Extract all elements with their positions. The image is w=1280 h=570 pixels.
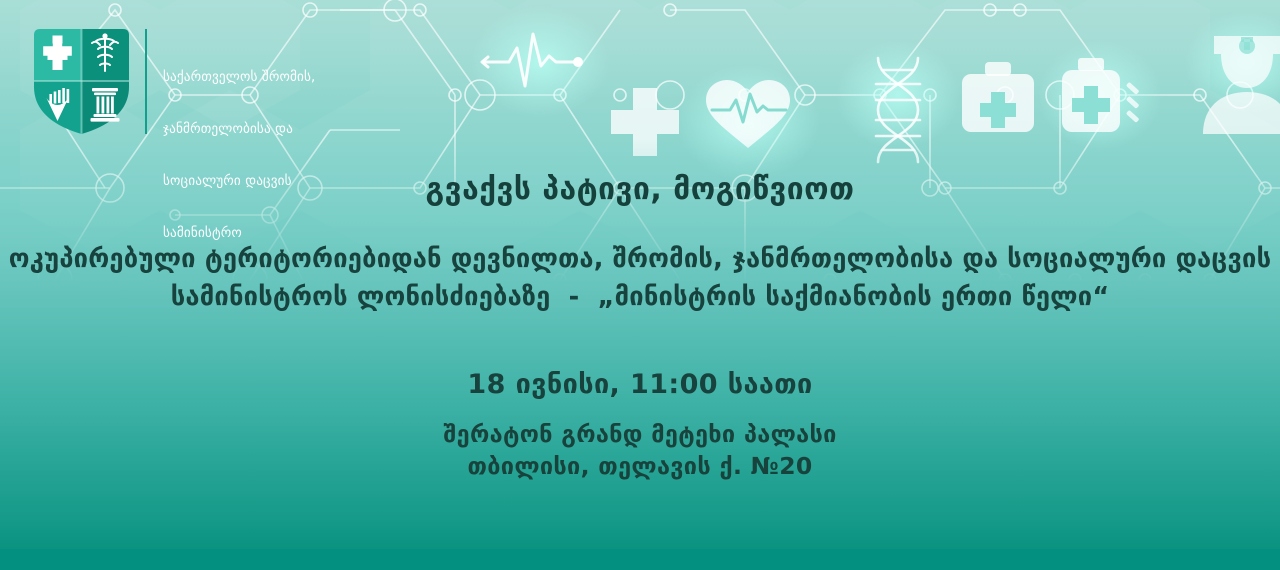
event-datetime: 18 ივნისი, 11:00 საათი — [0, 368, 1280, 402]
first-aid-kit-icon — [962, 62, 1034, 132]
logo-divider — [145, 29, 147, 134]
heartbeat-pulse-icon — [482, 34, 583, 86]
ministry-name-line: ჯანმრთელობისა და — [163, 121, 315, 138]
invitation-content: გვაქვს პატივი, მოგიწვიოთ ოკუპირებული ტერ… — [0, 172, 1280, 482]
event-invitation-banner: საქართველოს შრომის, ჯანმრთელობისა და სოც… — [0, 0, 1280, 570]
venue-address: თბილისი, თელავის ქ. №20 — [0, 450, 1280, 482]
heart-pulse-icon — [706, 80, 790, 148]
ministry-name-line: საქართველოს შრომის, — [163, 69, 315, 86]
dna-helix-icon — [876, 58, 920, 162]
bottom-accent-bar — [0, 549, 1280, 570]
invitation-body-line: სამინისტროს ლონისძიებაზე - „მინისტრის სა… — [0, 278, 1280, 316]
medical-cross-icon — [611, 88, 679, 156]
invitation-body-line: ოკუპირებული ტერიტორიებიდან დევნილთა, შრო… — [0, 240, 1280, 278]
doctor-avatar-icon — [1203, 36, 1280, 134]
venue-name: შერატონ გრანდ მეტეხი პალასი — [0, 418, 1280, 450]
invitation-body: ოკუპირებული ტერიტორიებიდან დევნილთა, შრო… — [0, 240, 1280, 316]
medicine-bottle-icon — [1062, 58, 1140, 132]
ministry-shield-emblem — [34, 27, 129, 135]
headline: გვაქვს პატივი, მოგიწვიოთ — [0, 172, 1280, 208]
event-venue: შერატონ გრანდ მეტეხი პალასი თბილისი, თელ… — [0, 418, 1280, 482]
